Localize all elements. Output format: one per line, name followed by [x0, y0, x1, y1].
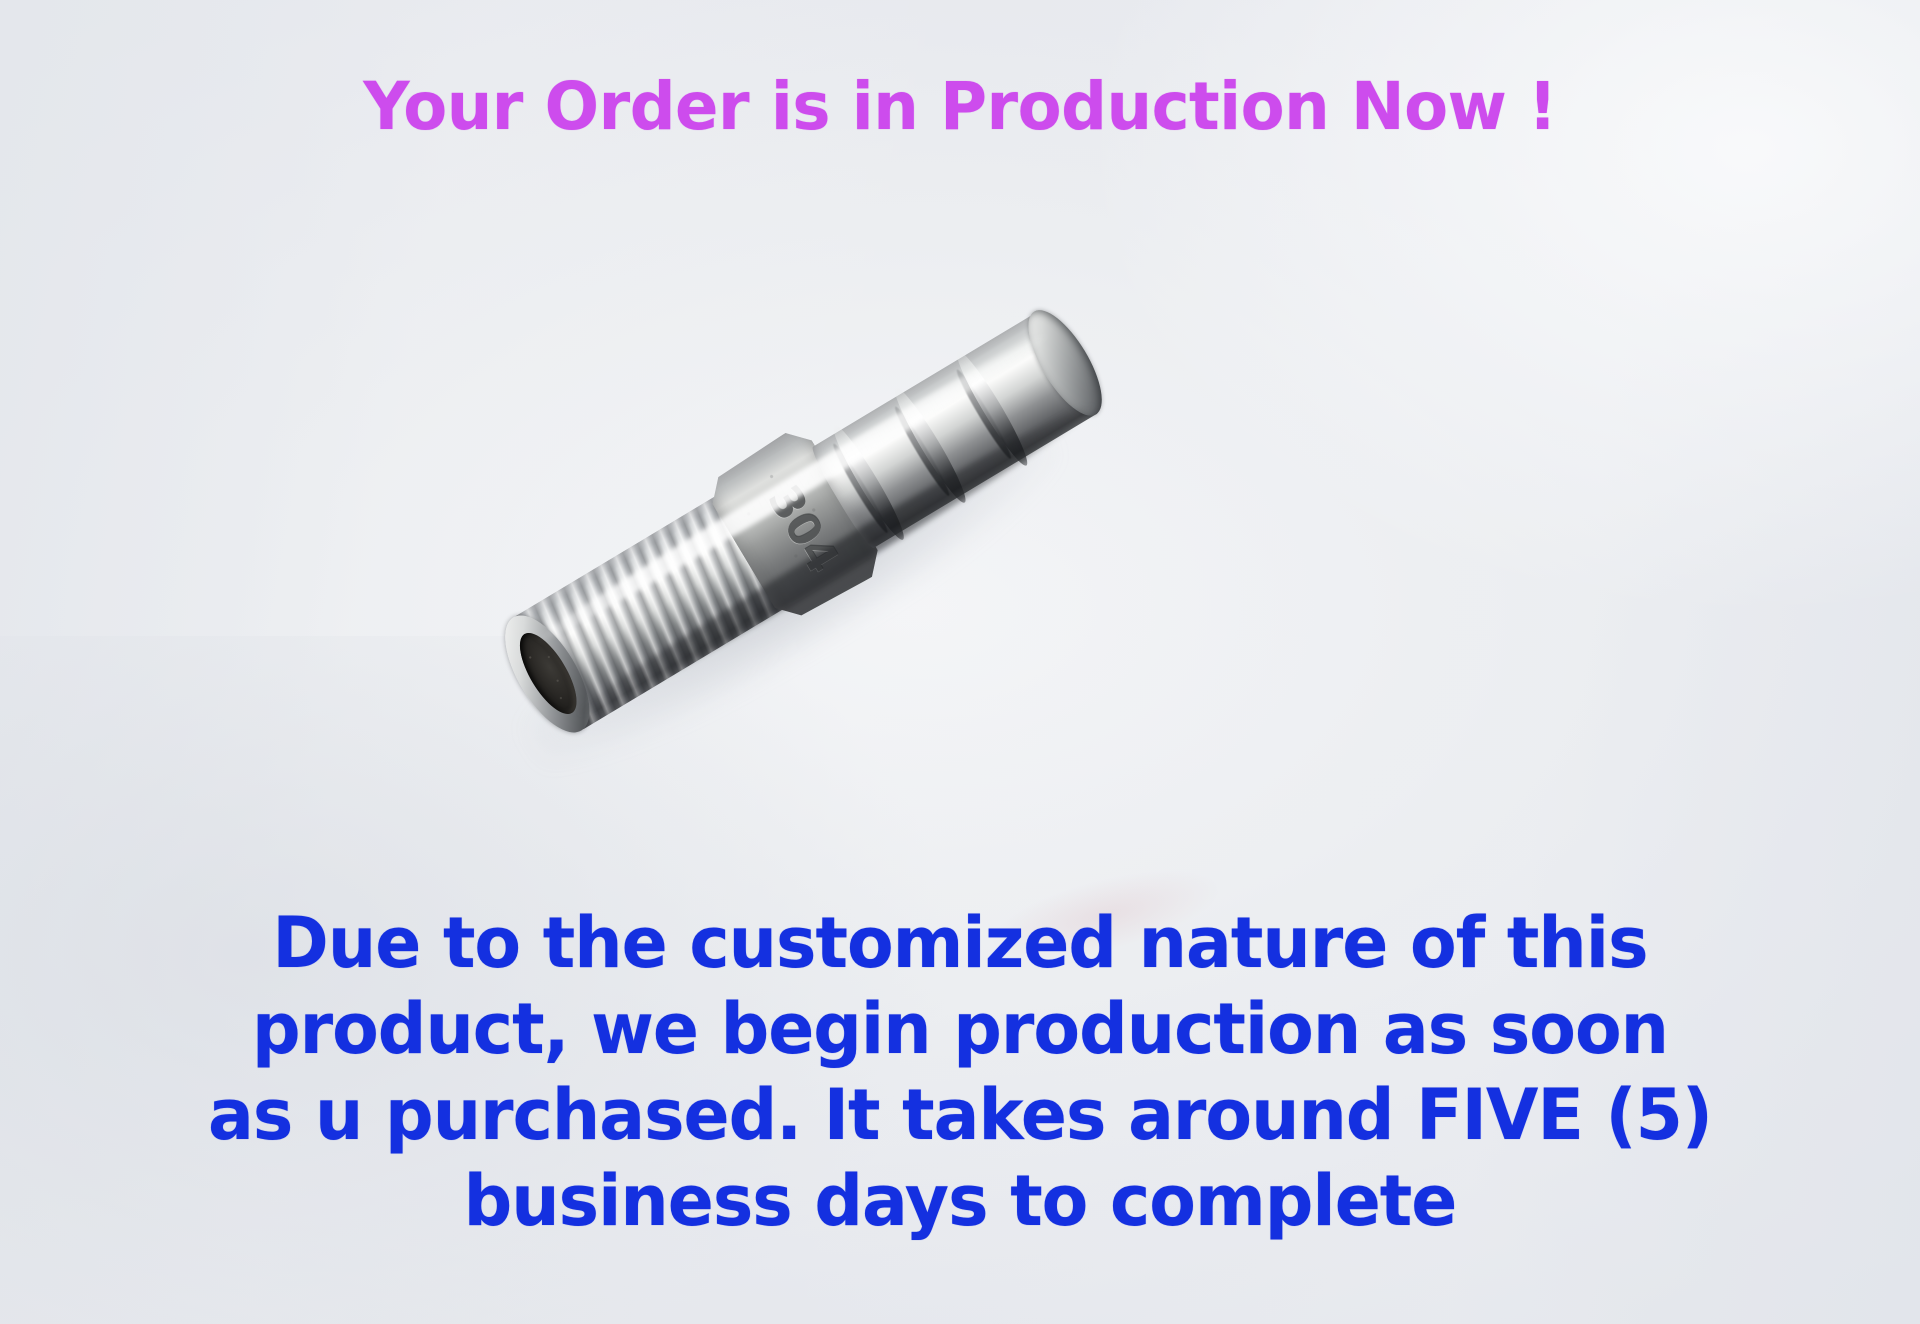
- product-photo: 304: [470, 300, 1150, 730]
- promotional-banner: Your Order is in Production Now ! 304 Du…: [0, 0, 1920, 1324]
- production-notice: Due to the customized nature of this pro…: [29, 900, 1891, 1244]
- notice-line-4: business days to complete: [29, 1158, 1891, 1244]
- notice-line-3: as u purchased. It takes around FIVE (5): [29, 1072, 1891, 1158]
- notice-line-1: Due to the customized nature of this: [29, 900, 1891, 986]
- notice-line-2: product, we begin production as soon: [29, 986, 1891, 1072]
- headline-text: Your Order is in Production Now !: [29, 74, 1891, 140]
